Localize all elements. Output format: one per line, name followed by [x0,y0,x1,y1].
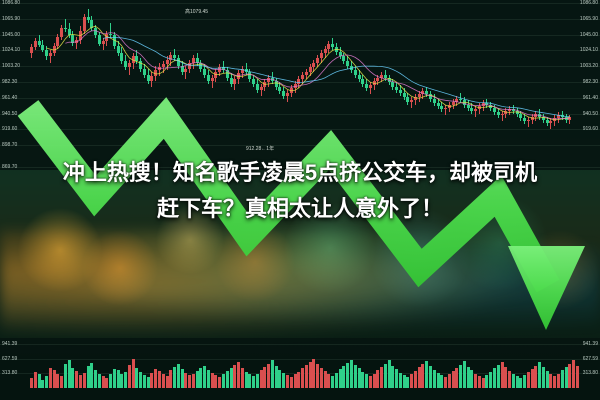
headline-text: 冲上热搜！知名歌手凌晨5点挤公交车，却被司机 赶下车？真相太让人意外了！ [0,155,600,227]
screenshot-root: 1086.801065.901045.001024.101003.20982.3… [0,0,600,400]
headline-line-2: 赶下车？真相太让人意外了！ [0,191,600,227]
headline-line-1: 冲上热搜！知名歌手凌晨5点挤公交车，却被司机 [63,160,537,185]
